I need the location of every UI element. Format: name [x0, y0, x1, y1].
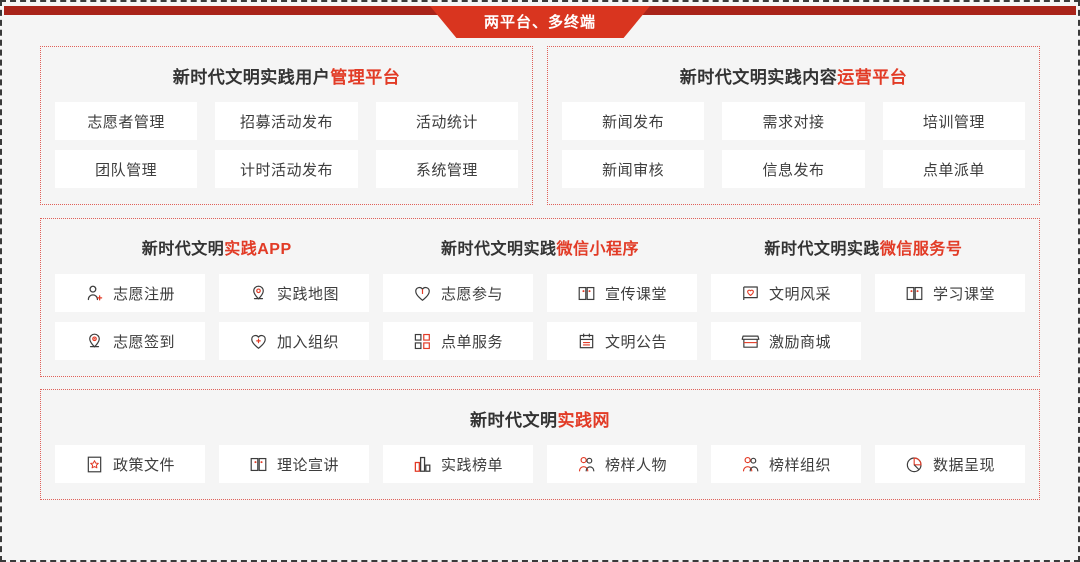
- panel-user-management-platform: 新时代文明实践用户管理平台 志愿者管理 招募活动发布 活动统计 团队管理 计时活…: [40, 46, 533, 205]
- website-grid: 政策文件 理论宣讲 实践榜单: [55, 445, 1025, 483]
- map-pin-check-icon: [85, 332, 104, 351]
- terminal-item-label: 点单服务: [441, 331, 503, 352]
- banner-ribbon: 两平台、多终端: [430, 6, 650, 38]
- platforms-row: 新时代文明实践用户管理平台 志愿者管理 招募活动发布 活动统计 团队管理 计时活…: [40, 46, 1040, 205]
- website-item-label: 榜样组织: [769, 454, 831, 475]
- photo-heart-icon: [741, 284, 760, 303]
- platform-item[interactable]: 系统管理: [376, 150, 518, 188]
- terminal-title-highlight: 实践APP: [224, 241, 291, 258]
- terminal-item-label: 志愿参与: [441, 283, 503, 304]
- terminal-titles-row: 新时代文明实践APP 新时代文明实践微信小程序 新时代文明实践微信服务号: [55, 231, 1025, 272]
- website-item-theory-lecture[interactable]: 理论宣讲: [219, 445, 369, 483]
- grid-blocks-icon: [413, 332, 432, 351]
- platform-item[interactable]: 团队管理: [55, 150, 197, 188]
- terminal-item-label: 志愿注册: [113, 283, 175, 304]
- infographic-frame: 两平台、多终端 新时代文明实践用户管理平台 志愿者管理 招募活动发布 活动统计 …: [0, 0, 1080, 562]
- terminal-item-label: 志愿签到: [113, 331, 175, 352]
- website-item-label: 榜样人物: [605, 454, 667, 475]
- content-area: 新时代文明实践用户管理平台 志愿者管理 招募活动发布 活动统计 团队管理 计时活…: [2, 38, 1078, 554]
- open-book-icon: [905, 284, 924, 303]
- terminal-item-practice-map[interactable]: 实践地图: [219, 274, 369, 312]
- terminal-item-label: 学习课堂: [933, 283, 995, 304]
- platform-item[interactable]: 培训管理: [883, 102, 1025, 140]
- platform-item[interactable]: 活动统计: [376, 102, 518, 140]
- terminal-item-label: 文明风采: [769, 283, 831, 304]
- website-item-data-presentation[interactable]: 数据呈现: [875, 445, 1025, 483]
- platform-item[interactable]: 新闻发布: [562, 102, 704, 140]
- terminal-item-label: 文明公告: [605, 331, 667, 352]
- website-item-label: 数据呈现: [933, 454, 995, 475]
- spacer: [40, 205, 1040, 218]
- platform-item[interactable]: 志愿者管理: [55, 102, 197, 140]
- terminal-title-plain: 新时代文明实践: [764, 241, 880, 258]
- panel-title-plain: 新时代文明实践内容: [680, 68, 838, 87]
- person-add-icon: [85, 284, 104, 303]
- website-item-role-model-organization[interactable]: 榜样组织: [711, 445, 861, 483]
- terminal-item-volunteer-register[interactable]: 志愿注册: [55, 274, 205, 312]
- terminal-title-plain: 新时代文明实践: [441, 241, 557, 258]
- terminal-item-label: 宣传课堂: [605, 283, 667, 304]
- terminal-item-reward-mall[interactable]: 激励商城: [711, 322, 861, 360]
- website-item-label: 实践榜单: [441, 454, 503, 475]
- panel-content-operation-platform: 新时代文明实践内容运营平台 新闻发布 需求对接 培训管理 新闻审核 信息发布 点…: [547, 46, 1040, 205]
- terminal-title-service-account: 新时代文明实践微信服务号: [702, 235, 1025, 259]
- document-star-icon: [85, 455, 104, 474]
- terminal-item-promotion-classroom[interactable]: 宣传课堂: [547, 274, 697, 312]
- website-item-role-model-people[interactable]: 榜样人物: [547, 445, 697, 483]
- terminal-title-plain: 新时代文明: [142, 241, 225, 258]
- user-management-grid: 志愿者管理 招募活动发布 活动统计 团队管理 计时活动发布 系统管理: [55, 102, 518, 188]
- terminal-item-label: 加入组织: [277, 331, 339, 352]
- terminal-item-label: 激励商城: [769, 331, 831, 352]
- bar-chart-icon: [413, 455, 432, 474]
- terminal-item-study-classroom[interactable]: 学习课堂: [875, 274, 1025, 312]
- shop-icon: [741, 332, 760, 351]
- panel-title-highlight: 实践网: [558, 411, 611, 430]
- content-operation-grid: 新闻发布 需求对接 培训管理 新闻审核 信息发布 点单派单: [562, 102, 1025, 188]
- panel-title-plain: 新时代文明实践用户: [173, 68, 331, 87]
- panel-title-highlight: 管理平台: [330, 68, 400, 87]
- heart-icon: [413, 284, 432, 303]
- platform-item[interactable]: 计时活动发布: [215, 150, 357, 188]
- panel-website: 新时代文明实践网 政策文件 理论宣讲: [40, 389, 1040, 500]
- terminal-title-miniprogram: 新时代文明实践微信小程序: [378, 235, 701, 259]
- website-item-practice-ranking[interactable]: 实践榜单: [383, 445, 533, 483]
- panel-title-website: 新时代文明实践网: [55, 406, 1025, 431]
- website-item-policy-documents[interactable]: 政策文件: [55, 445, 205, 483]
- terminal-item-volunteer-participate[interactable]: 志愿参与: [383, 274, 533, 312]
- terminal-item-label: 实践地图: [277, 283, 339, 304]
- calendar-icon: [577, 332, 596, 351]
- platform-item[interactable]: 点单派单: [883, 150, 1025, 188]
- terminal-item-join-organization[interactable]: 加入组织: [219, 322, 369, 360]
- heart-plus-icon: [249, 332, 268, 351]
- platform-item[interactable]: 新闻审核: [562, 150, 704, 188]
- panel-title-user-management: 新时代文明实践用户管理平台: [55, 63, 518, 88]
- terminal-title-highlight: 微信服务号: [880, 241, 963, 258]
- two-people-icon: [741, 455, 760, 474]
- terminal-item-empty: [875, 322, 1025, 360]
- terminals-grid: 志愿注册 实践地图 志愿参与: [55, 274, 1025, 360]
- terminal-item-civilized-style[interactable]: 文明风采: [711, 274, 861, 312]
- pie-chart-icon: [905, 455, 924, 474]
- two-people-icon: [577, 455, 596, 474]
- website-item-label: 政策文件: [113, 454, 175, 475]
- terminal-item-civilized-notice[interactable]: 文明公告: [547, 322, 697, 360]
- terminal-item-order-service[interactable]: 点单服务: [383, 322, 533, 360]
- terminal-title-app: 新时代文明实践APP: [55, 235, 378, 259]
- spacer: [40, 377, 1040, 389]
- map-pin-icon: [249, 284, 268, 303]
- banner-title: 两平台、多终端: [484, 15, 596, 30]
- terminal-title-highlight: 微信小程序: [556, 241, 639, 258]
- panel-terminals: 新时代文明实践APP 新时代文明实践微信小程序 新时代文明实践微信服务号 志愿注…: [40, 218, 1040, 377]
- open-book-icon: [577, 284, 596, 303]
- platform-item[interactable]: 需求对接: [722, 102, 864, 140]
- platform-item[interactable]: 信息发布: [722, 150, 864, 188]
- website-item-label: 理论宣讲: [277, 454, 339, 475]
- panel-title-highlight: 运营平台: [837, 68, 907, 87]
- platform-item[interactable]: 招募活动发布: [215, 102, 357, 140]
- panel-title-plain: 新时代文明: [470, 411, 558, 430]
- open-book-icon: [249, 455, 268, 474]
- panel-title-content-operation: 新时代文明实践内容运营平台: [562, 63, 1025, 88]
- terminal-item-volunteer-checkin[interactable]: 志愿签到: [55, 322, 205, 360]
